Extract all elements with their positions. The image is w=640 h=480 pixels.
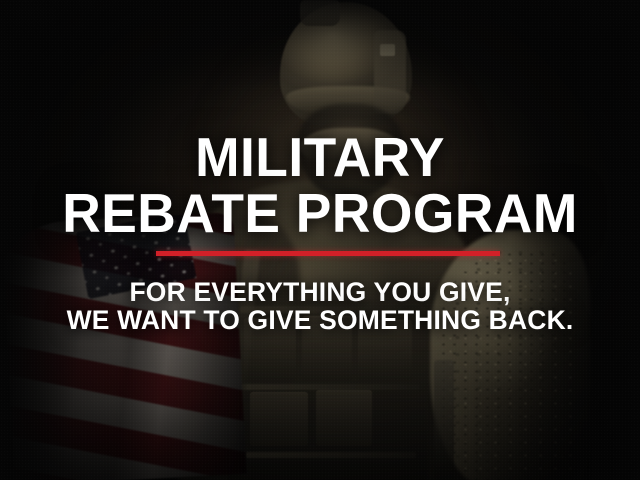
text-overlay: MILITARY REBATE PROGRAM FOR EVERYTHING Y…	[0, 0, 640, 480]
headline-line-1: MILITARY	[10, 131, 631, 185]
promo-banner: MILITARY REBATE PROGRAM FOR EVERYTHING Y…	[0, 0, 640, 480]
headline-line-2: REBATE PROGRAM	[10, 187, 631, 241]
subheadline-line-1: FOR EVERYTHING YOU GIVE,	[6, 279, 633, 306]
red-divider-rule	[156, 251, 500, 256]
subheadline-line-2: WE WANT TO GIVE SOMETHING BACK.	[6, 307, 633, 334]
